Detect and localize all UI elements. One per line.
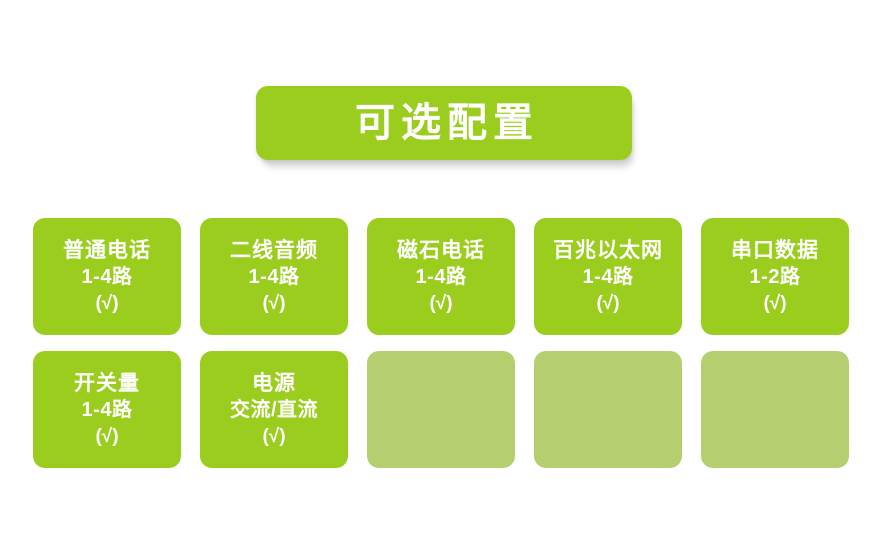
card-channels: 1-4路	[583, 264, 634, 290]
card-channels: 交流/直流	[230, 397, 318, 423]
card-check: (√)	[262, 291, 285, 317]
option-card-magneto-telephone[interactable]: 磁石电话 1-4路 (√)	[367, 218, 515, 335]
card-check: (√)	[95, 424, 118, 450]
option-card-grid: 普通电话 1-4路 (√) 二线音频 1-4路 (√) 磁石电话 1-4路 (√…	[33, 218, 851, 484]
page-title: 可选配置	[349, 103, 539, 143]
card-row-2: 开关量 1-4路 (√) 电源 交流/直流 (√)	[33, 351, 851, 468]
option-card-placeholder-1	[367, 351, 515, 468]
card-check: (√)	[262, 424, 285, 450]
option-card-placeholder-3	[701, 351, 849, 468]
card-title: 普通电话	[63, 237, 151, 265]
title-banner: 可选配置	[256, 86, 632, 160]
option-card-serial-data[interactable]: 串口数据 1-2路 (√)	[701, 218, 849, 335]
card-channels: 1-2路	[750, 264, 801, 290]
option-card-switching-value[interactable]: 开关量 1-4路 (√)	[33, 351, 181, 468]
option-card-placeholder-2	[534, 351, 682, 468]
option-card-two-wire-audio[interactable]: 二线音频 1-4路 (√)	[200, 218, 348, 335]
card-title: 百兆以太网	[553, 237, 663, 265]
card-title: 串口数据	[731, 237, 819, 265]
diagram-canvas: 可选配置 普通电话 1-4路 (√) 二线音频 1-4路 (√) 磁石电话 1-…	[0, 0, 880, 560]
option-card-fast-ethernet[interactable]: 百兆以太网 1-4路 (√)	[534, 218, 682, 335]
card-check: (√)	[763, 291, 786, 317]
option-card-power-supply[interactable]: 电源 交流/直流 (√)	[200, 351, 348, 468]
card-channels: 1-4路	[82, 397, 133, 423]
card-title: 二线音频	[230, 237, 318, 265]
card-row-1: 普通电话 1-4路 (√) 二线音频 1-4路 (√) 磁石电话 1-4路 (√…	[33, 218, 851, 335]
card-title: 开关量	[74, 370, 140, 398]
card-channels: 1-4路	[82, 264, 133, 290]
card-channels: 1-4路	[416, 264, 467, 290]
card-check: (√)	[429, 291, 452, 317]
card-check: (√)	[95, 291, 118, 317]
title-banner-body: 可选配置	[256, 86, 632, 160]
option-card-ordinary-telephone[interactable]: 普通电话 1-4路 (√)	[33, 218, 181, 335]
card-title: 磁石电话	[397, 237, 485, 265]
card-title: 电源	[252, 370, 296, 398]
card-channels: 1-4路	[249, 264, 300, 290]
card-check: (√)	[596, 291, 619, 317]
